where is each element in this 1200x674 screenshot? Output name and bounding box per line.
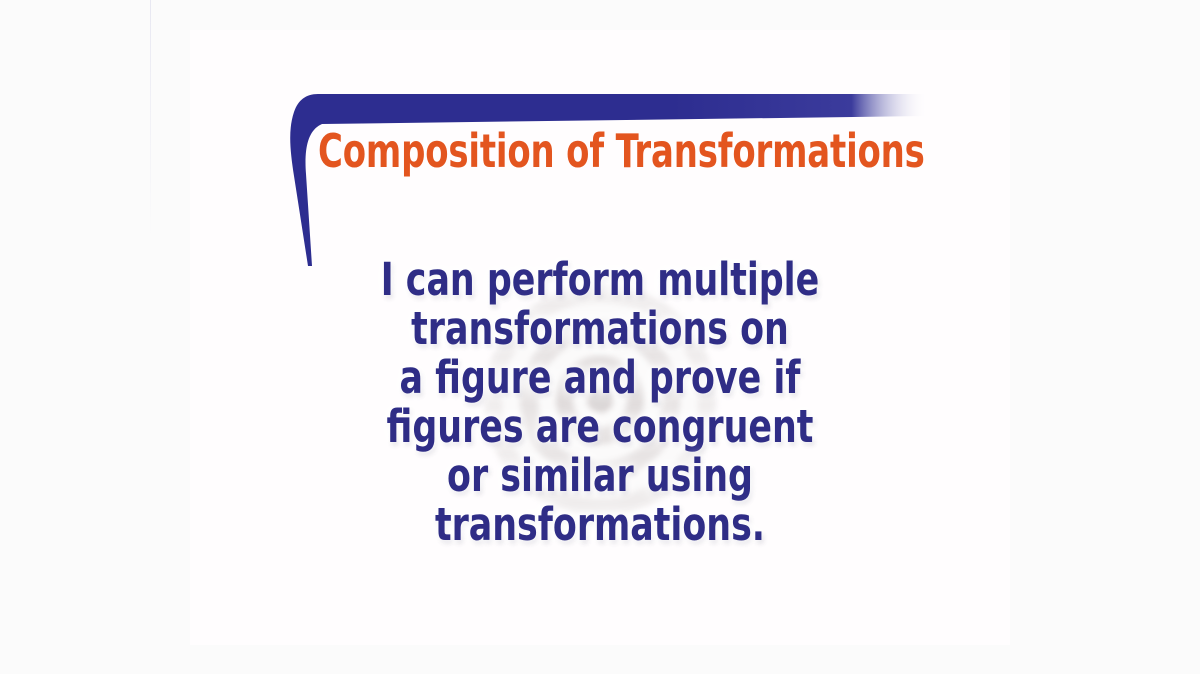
page-title: Composition of Transformations: [318, 128, 925, 174]
objective-line-2: transformations on: [247, 304, 952, 353]
objective-line-3: a figure and prove if: [247, 353, 952, 402]
content-band-left-edge: [150, 0, 151, 674]
swoosh-path: [290, 94, 928, 266]
objective-line-6: transformations.: [247, 500, 952, 549]
slide-card: Composition of Transformations I can per…: [190, 30, 1010, 645]
objective-line-5: or similar using: [247, 451, 952, 500]
slide-stage: Composition of Transformations I can per…: [0, 0, 1200, 674]
objective-line-4: figures are congruent: [247, 402, 952, 451]
learning-objective-text: I can perform multiple transformations o…: [190, 255, 1010, 549]
objective-line-1: I can perform multiple: [247, 255, 952, 304]
